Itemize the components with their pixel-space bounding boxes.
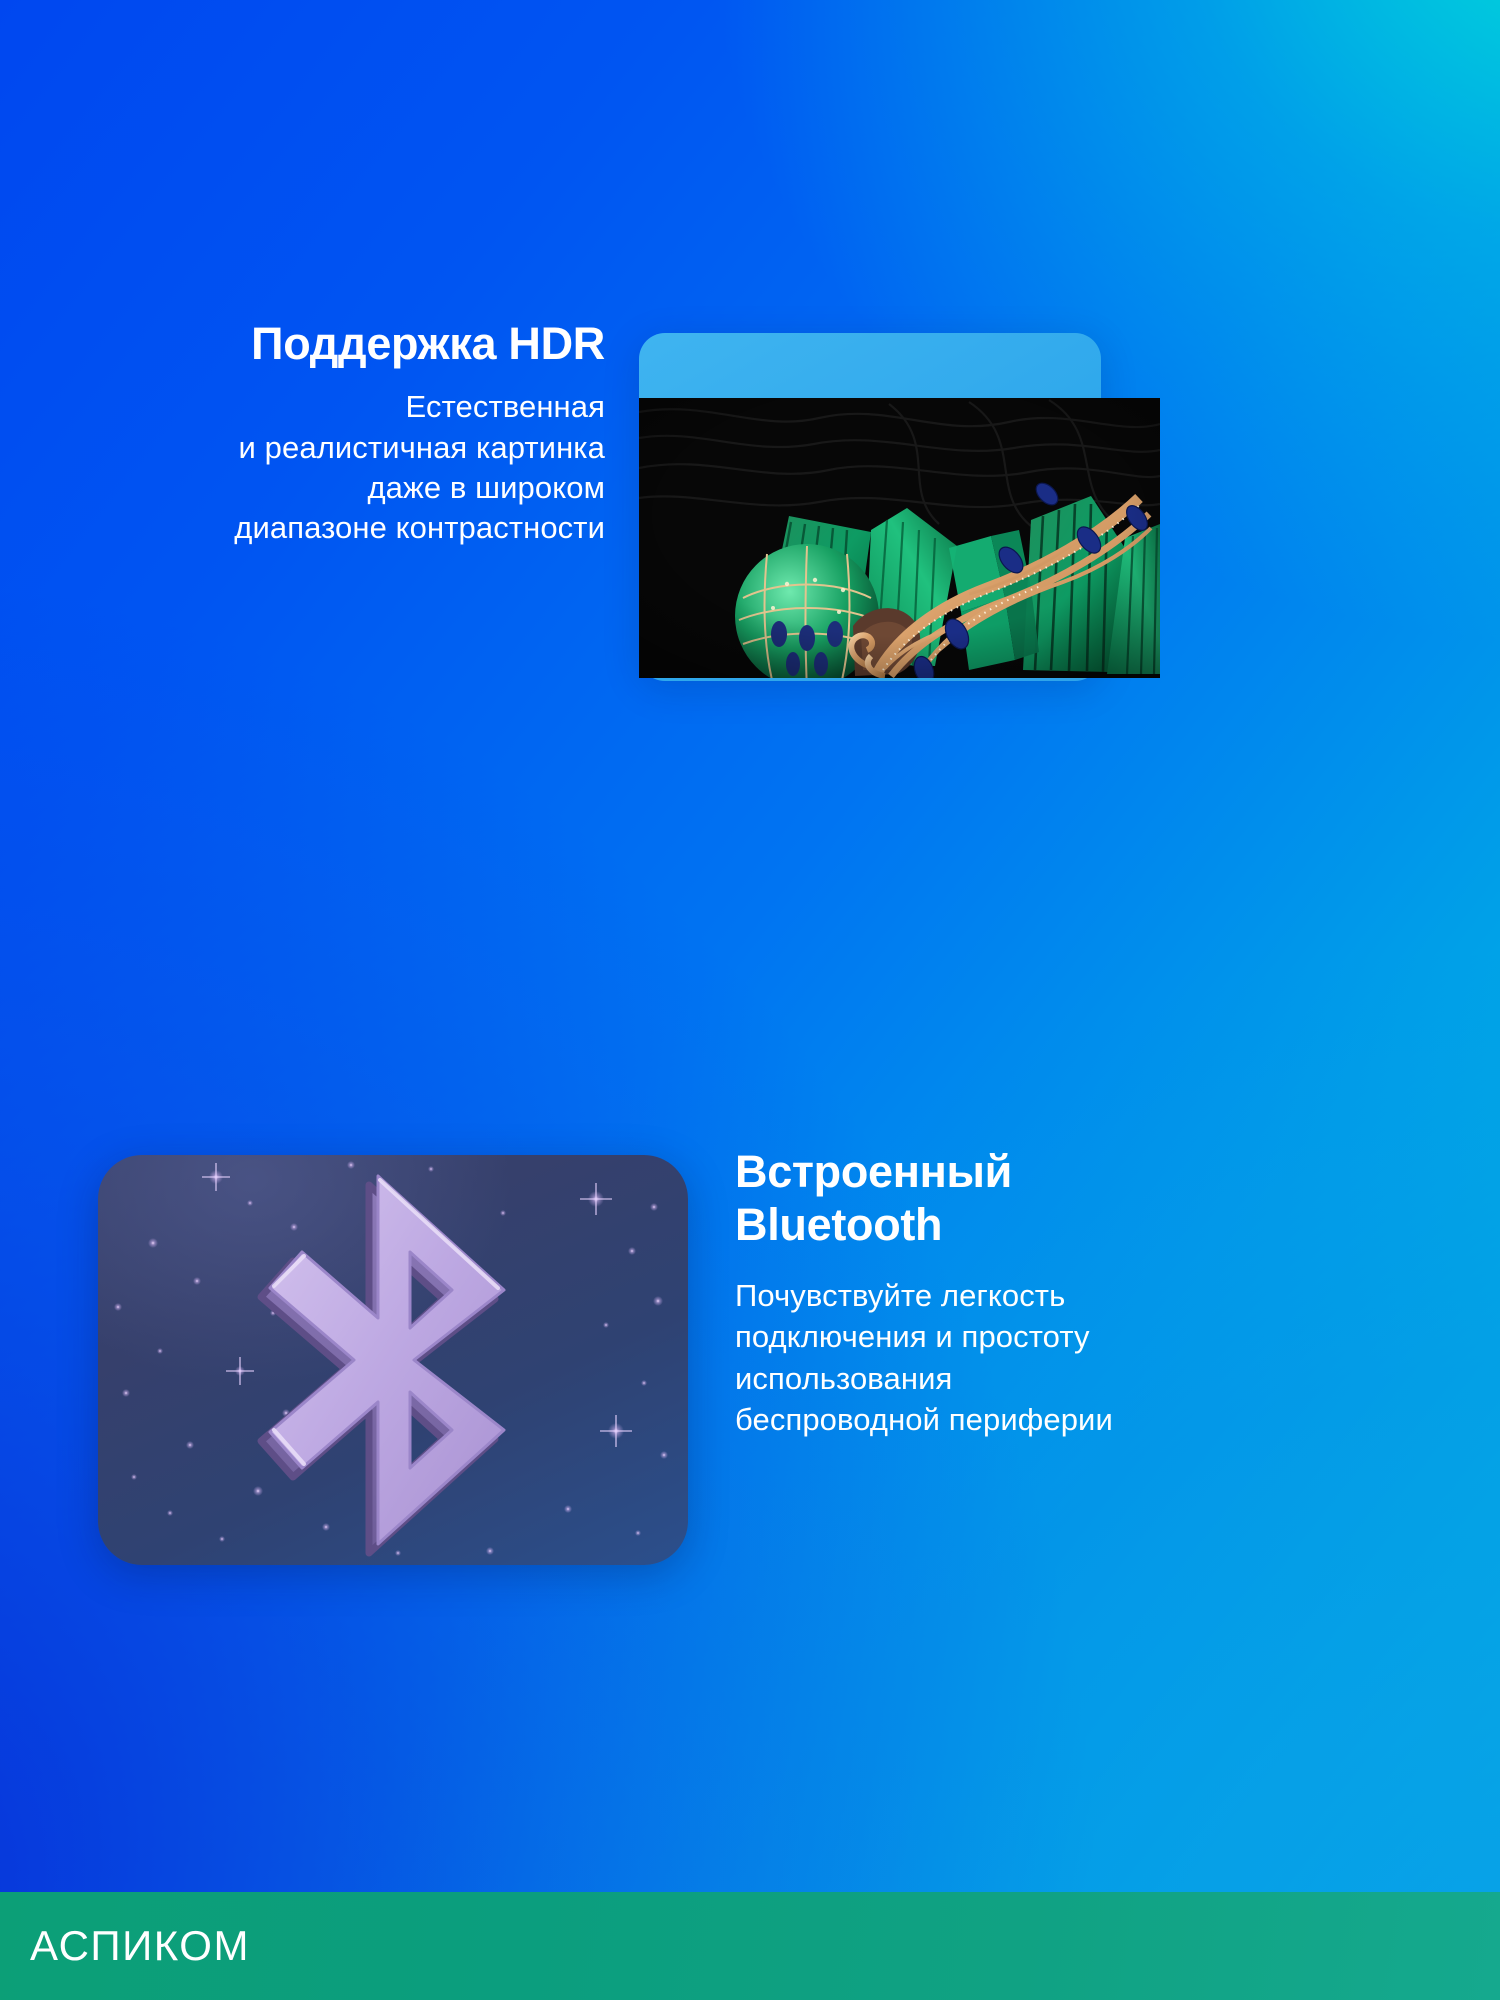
hdr-description: Естественная и реалистичная картинка даж… [60,387,605,548]
hdr-title: Поддержка HDR [60,320,605,367]
bluetooth-logo-icon [228,1160,558,1560]
bluetooth-description-line: Почувствуйте легкость [735,1275,1435,1316]
promo-page: Поддержка HDR Естественная и реалистична… [0,0,1500,2000]
bluetooth-description: Почувствуйте легкость подключения и прос… [735,1275,1435,1440]
hdr-photo [639,398,1160,678]
hdr-text-group: Поддержка HDR Естественная и реалистична… [60,320,605,548]
hdr-description-line: диапазоне контрастности [60,508,605,548]
bluetooth-title-line: Bluetooth [735,1198,1435,1251]
bluetooth-description-line: подключения и простоту [735,1316,1435,1357]
bluetooth-title: Встроенный Bluetooth [735,1145,1435,1251]
bluetooth-description-line: беспроводной периферии [735,1399,1435,1440]
bluetooth-image-card [98,1155,688,1565]
bluetooth-title-line: Встроенный [735,1145,1435,1198]
hdr-description-line: и реалистичная картинка [60,428,605,468]
brand-logo-text: АСПИКОМ [30,1922,250,1970]
hdr-description-line: Естественная [60,387,605,427]
hdr-feature-section: Поддержка HDR Естественная и реалистична… [0,305,1500,705]
bluetooth-feature-section: Встроенный Bluetooth Почувствуйте легкос… [0,1145,1500,1575]
footer-banner: АСПИКОМ [0,1892,1500,2000]
bluetooth-description-line: использования [735,1358,1435,1399]
bluetooth-text-group: Встроенный Bluetooth Почувствуйте легкос… [735,1145,1435,1440]
hdr-description-line: даже в широком [60,468,605,508]
